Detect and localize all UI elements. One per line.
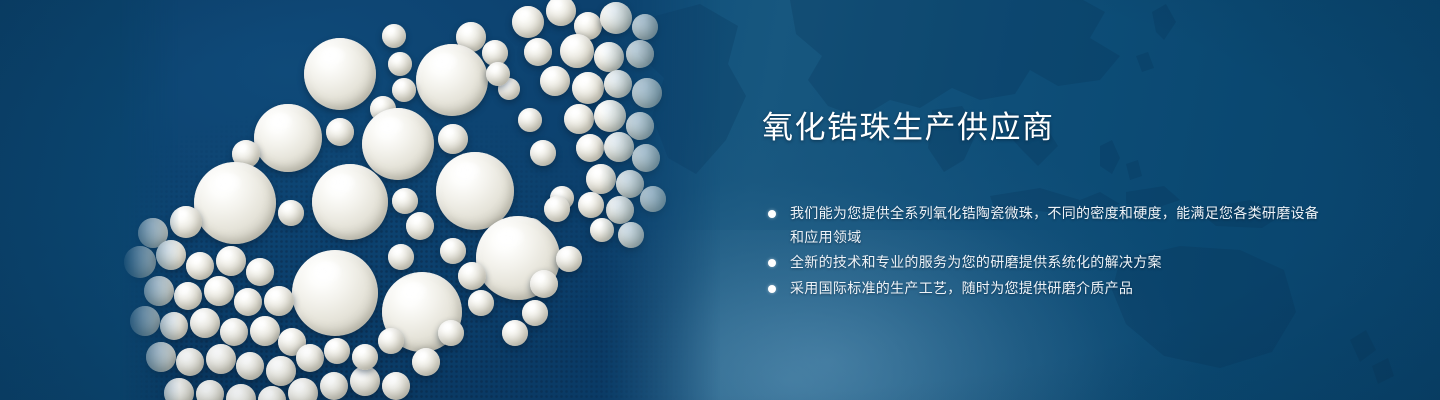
bead-cluster xyxy=(120,0,720,400)
hero-banner: 氧化锆珠生产供应商 我们能为您提供全系列氧化锆陶瓷微珠，不同的密度和硬度，能满足… xyxy=(0,0,1440,400)
bullet-dot-icon xyxy=(768,259,776,267)
product-image-zirconia-beads xyxy=(120,0,720,400)
list-item-label: 全新的技术和专业的服务为您的研磨提供系统化的解决方案 xyxy=(790,251,1322,275)
bullet-dot-icon xyxy=(768,285,776,293)
list-item: 采用国际标准的生产工艺，随时为您提供研磨介质产品 xyxy=(762,277,1322,301)
page-title: 氧化锆珠生产供应商 xyxy=(762,108,1322,148)
banner-copy: 氧化锆珠生产供应商 我们能为您提供全系列氧化锆陶瓷微珠，不同的密度和硬度，能满足… xyxy=(762,108,1322,302)
bullet-dot-icon xyxy=(768,210,776,218)
list-item: 我们能为您提供全系列氧化锆陶瓷微珠，不同的密度和硬度，能满足您各类研磨设备和应用… xyxy=(762,202,1322,249)
list-item-label: 我们能为您提供全系列氧化锆陶瓷微珠，不同的密度和硬度，能满足您各类研磨设备和应用… xyxy=(790,202,1322,249)
list-item-label: 采用国际标准的生产工艺，随时为您提供研磨介质产品 xyxy=(790,277,1322,301)
feature-list: 我们能为您提供全系列氧化锆陶瓷微珠，不同的密度和硬度，能满足您各类研磨设备和应用… xyxy=(762,202,1322,300)
list-item: 全新的技术和专业的服务为您的研磨提供系统化的解决方案 xyxy=(762,251,1322,275)
